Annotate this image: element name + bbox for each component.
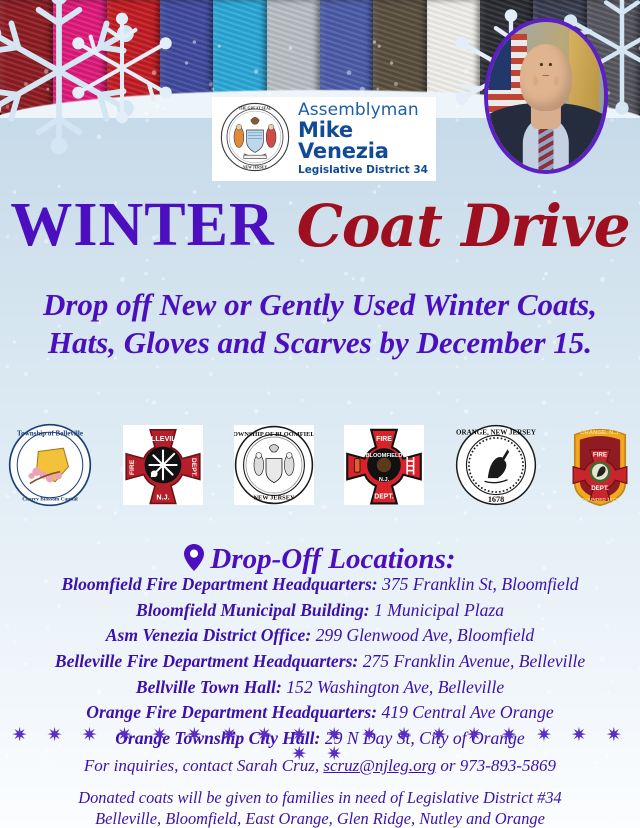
partner-badges: Township of Belleville Cherry Blossom Ca…: [8, 424, 632, 510]
svg-text:FIRE: FIRE: [129, 459, 136, 475]
location-name: Asm Venezia District Office:: [106, 625, 311, 645]
svg-text:DEPT.: DEPT.: [190, 457, 197, 476]
list-item: Bloomfield Municipal Building: 1 Municip…: [6, 598, 634, 624]
banner-role: Assemblyman: [298, 102, 430, 120]
donation-note-line-1: Donated coats will be given to families …: [8, 787, 632, 808]
svg-text:Township of Belleville: Township of Belleville: [17, 429, 83, 437]
title-coat-drive: Coat Drive: [297, 192, 630, 260]
svg-text:Cherry Blossom Capital: Cherry Blossom Capital: [22, 496, 78, 502]
location-address: 375 Franklin St, Bloomfield: [382, 574, 578, 594]
svg-text:ORANGE, N.J.: ORANGE, N.J.: [580, 429, 620, 435]
list-item: Asm Venezia District Office: 299 Glenwoo…: [6, 623, 634, 649]
list-item: Bellville Town Hall: 152 Washington Ave,…: [6, 675, 634, 701]
svg-text:N.J.: N.J.: [156, 492, 169, 501]
location-address: 1 Municipal Plaza: [374, 600, 504, 620]
svg-text:DEPT.: DEPT.: [591, 485, 609, 492]
inquiries-line: For inquiries, contact Sarah Cruz, scruz…: [0, 756, 640, 776]
svg-text:NEW JERSEY: NEW JERSEY: [253, 494, 295, 501]
assemblyman-banner: THE GREAT SEAL NEW JERSEY Assemblyman Mi…: [212, 97, 436, 181]
svg-text:DEPT.: DEPT.: [375, 493, 395, 500]
svg-text:FOUNDED 1872: FOUNDED 1872: [583, 497, 618, 502]
badge-township-of-belleville: Township of Belleville Cherry Blossom Ca…: [8, 423, 92, 512]
list-item: Belleville Fire Department Headquarters:…: [6, 649, 634, 675]
svg-text:FIRE: FIRE: [593, 451, 607, 458]
list-item: Bloomfield Fire Department Headquarters:…: [6, 572, 634, 598]
badge-city-of-orange-seal: ORANGE, NEW JERSEY 1678: [455, 424, 537, 511]
donation-note-line-2: Belleville, Bloomfield, East Orange, Gle…: [8, 808, 632, 828]
title-winter: WINTER: [10, 191, 274, 259]
banner-district: Legislative District 34: [298, 165, 430, 176]
svg-text:TOWNSHIP OF BLOOMFIELD: TOWNSHIP OF BLOOMFIELD: [234, 431, 314, 438]
svg-text:N.J.: N.J.: [379, 477, 390, 483]
badge-township-of-bloomfield: TOWNSHIP OF BLOOMFIELD NEW JERSEY: [234, 425, 314, 510]
email-link[interactable]: scruz@njleg.org: [323, 756, 436, 775]
svg-text:ORANGE, NEW JERSEY: ORANGE, NEW JERSEY: [456, 428, 536, 436]
nj-state-seal-icon: THE GREAT SEAL NEW JERSEY: [220, 102, 290, 177]
svg-text:FIRE: FIRE: [377, 436, 393, 443]
location-name: Belleville Fire Department Headquarters:: [55, 651, 358, 671]
donation-note: Donated coats will be given to families …: [8, 787, 632, 828]
dropoff-heading-text: Drop-Off Locations:: [210, 543, 455, 575]
svg-text:NEW JERSEY: NEW JERSEY: [243, 165, 268, 169]
svg-text:THE GREAT SEAL: THE GREAT SEAL: [239, 106, 272, 110]
location-address: 275 Franklin Avenue, Belleville: [363, 651, 585, 671]
banner-name: Mike Venezia: [298, 120, 430, 164]
inquiries-suffix: or 973-893-5869: [436, 756, 556, 775]
assemblyman-portrait: [484, 18, 608, 174]
flyer-title: WINTERCoat Drive: [0, 190, 640, 261]
location-address: 299 Glenwood Ave, Bloomfield: [316, 625, 535, 645]
svg-text:1678: 1678: [488, 494, 504, 503]
inquiries-prefix: For inquiries, contact Sarah Cruz,: [84, 756, 323, 775]
badge-belleville-fire-dept: BELLEVILLE N.J. FIRE DEPT.: [123, 425, 203, 510]
svg-text:BLOOMFIELD: BLOOMFIELD: [366, 453, 403, 459]
flyer-subtitle: Drop off New or Gently Used Winter Coats…: [24, 286, 616, 362]
svg-text:BELLEVILLE: BELLEVILLE: [141, 434, 185, 443]
badge-bloomfield-fire-dept: FIRE DEPT. BLOOMFIELD N.J.: [344, 425, 424, 510]
location-address: 419 Central Ave Orange: [382, 702, 554, 722]
location-address: 152 Washington Ave, Belleville: [286, 677, 504, 697]
list-item: Orange Fire Department Headquarters: 419…: [6, 700, 634, 726]
location-name: Bloomfield Fire Department Headquarters:: [61, 574, 377, 594]
location-name: Bloomfield Municipal Building:: [136, 600, 370, 620]
winter-coat-drive-flyer: THE GREAT SEAL NEW JERSEY Assemblyman Mi…: [0, 0, 640, 828]
location-name: Orange Fire Department Headquarters:: [86, 702, 377, 722]
badge-orange-fire-dept: FIRE DEPT. ORANGE, N.J. FOUNDED 1872: [568, 423, 632, 512]
location-name: Bellville Town Hall:: [136, 677, 282, 697]
